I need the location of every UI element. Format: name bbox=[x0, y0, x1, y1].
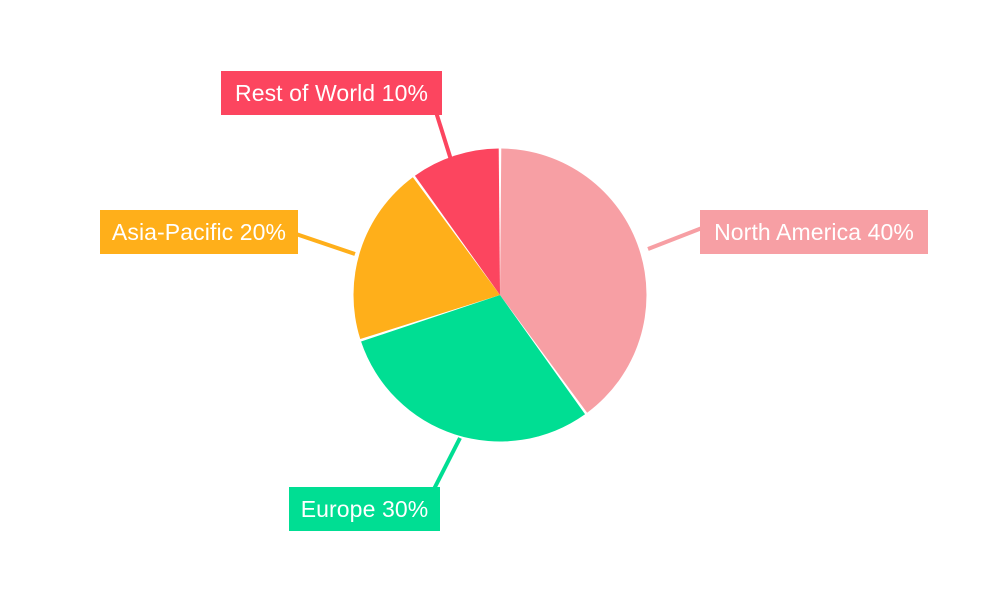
pie-label-europe-text: Europe 30% bbox=[301, 498, 429, 521]
leader-line-europe bbox=[434, 438, 460, 489]
pie-slices bbox=[353, 149, 646, 442]
pie-chart-figure: North America 40% Europe 30% Asia-Pacifi… bbox=[0, 0, 1000, 600]
pie-label-europe[interactable]: Europe 30% bbox=[289, 487, 440, 531]
pie-label-asia-pacific[interactable]: Asia-Pacific 20% bbox=[100, 210, 298, 254]
pie-label-north-america-text: North America 40% bbox=[714, 221, 914, 244]
pie-chart-canvas bbox=[0, 0, 1000, 600]
leader-line-rest-of-world bbox=[436, 112, 452, 163]
leader-line-asia-pacific bbox=[296, 234, 355, 254]
pie-label-north-america[interactable]: North America 40% bbox=[700, 210, 928, 254]
pie-label-asia-pacific-text: Asia-Pacific 20% bbox=[112, 221, 286, 244]
pie-label-rest-of-world-text: Rest of World 10% bbox=[235, 82, 428, 105]
leader-line-north-america bbox=[648, 228, 702, 249]
pie-label-rest-of-world[interactable]: Rest of World 10% bbox=[221, 71, 442, 115]
